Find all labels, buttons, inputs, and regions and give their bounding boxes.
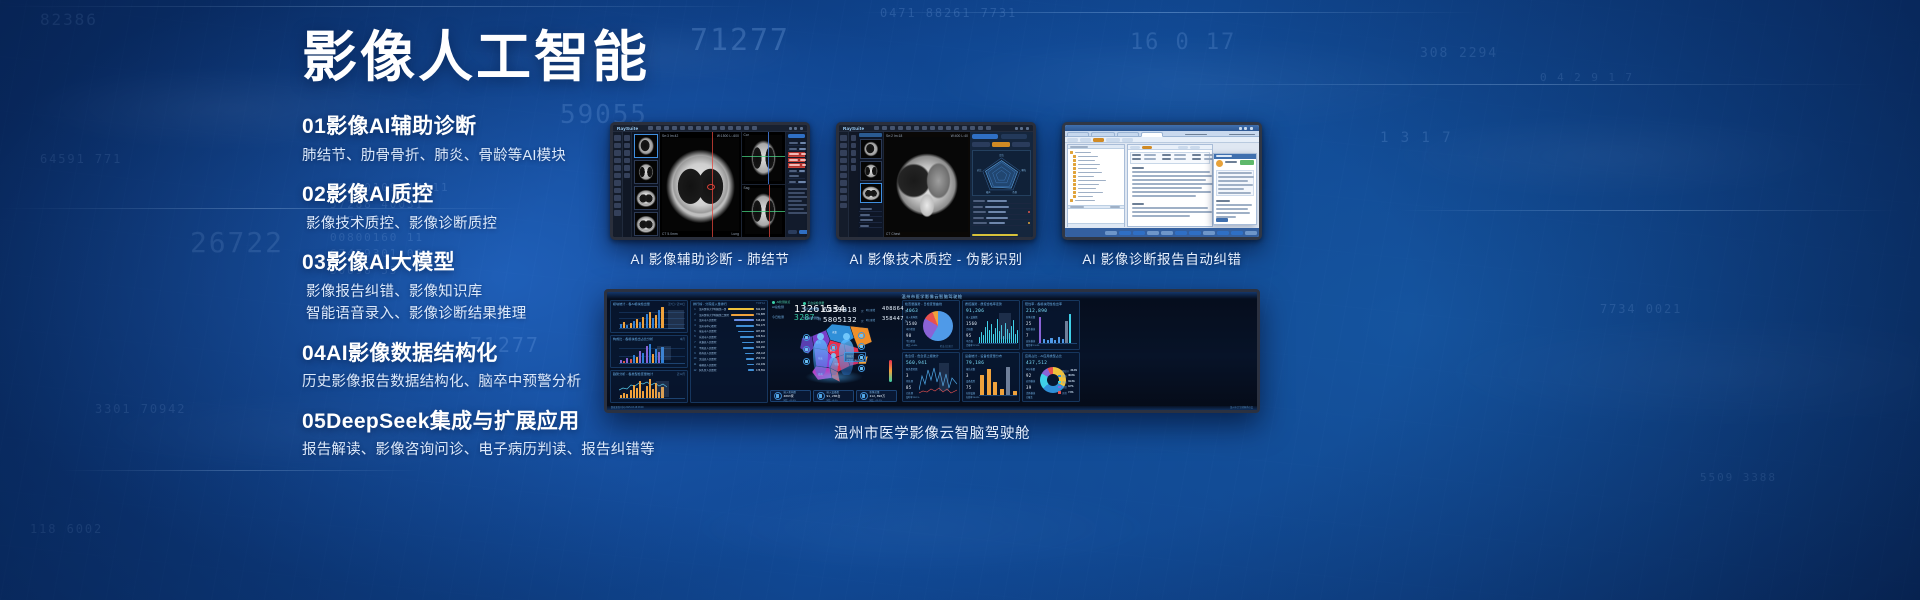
- hero-badge: 平台总检测量: [803, 301, 824, 305]
- kpi-card-images[interactable]: 影像总量 212,890万 同比 +15.2%: [856, 390, 897, 402]
- main-axial-view[interactable]: Se:2 Im:18 W:400 L:40 CT Chest: [884, 132, 970, 237]
- window-controls[interactable]: [789, 127, 807, 130]
- tool-rail[interactable]: [839, 132, 849, 237]
- list-item[interactable]: 12 洞头区人民医院 178,562: [693, 368, 765, 372]
- map-region-taishun: [800, 336, 814, 354]
- list-item[interactable]: 10 文成县人民医院 254,733: [693, 357, 765, 361]
- dashboard-footer-right: 温州市卫生健康委员会: [1230, 405, 1253, 409]
- hospital-icon: [774, 392, 782, 400]
- svg-text:噪声: 噪声: [986, 190, 991, 194]
- kpi-label: 接入机构数: [906, 315, 918, 319]
- page-title: 影像人工智能: [302, 28, 702, 86]
- wenzhou-map[interactable]: [788, 322, 888, 386]
- svg-text:对比: 对比: [977, 168, 982, 172]
- dashboard-panel-ai-usage[interactable]: 应用占比 - AI应用类型占比 437,512 AI分析量 92 应用模块 39…: [1022, 352, 1080, 402]
- svg-text:伪影: 伪影: [1013, 190, 1018, 194]
- apply-button[interactable]: [1216, 218, 1228, 222]
- pie-chart: [923, 311, 953, 341]
- hero-row1-label: 累计总检测数: [803, 307, 819, 311]
- panel-subtitle: TOP 12: [756, 302, 765, 305]
- toolbar[interactable]: [1065, 137, 1259, 143]
- panel-title: 设备统计 - 设备检查量分布: [965, 354, 1002, 358]
- series-thumbnail[interactable]: [860, 139, 882, 159]
- hero-row2-label: 分院总检测数: [803, 316, 819, 320]
- qc-option[interactable]: [972, 142, 990, 147]
- kpi-label: 报告总数: [966, 367, 975, 371]
- hero-row1-value: 6459818: [823, 305, 857, 314]
- dashboard-panel-critical-value[interactable]: 危急值 - 危急值上报统计 560,941 服务患者数 3 待处理 85 已处理…: [902, 352, 960, 402]
- panel-title: 阳性率 - 各模块阳性检出率: [1025, 302, 1062, 306]
- qc-option[interactable]: [1012, 142, 1030, 147]
- next-button[interactable]: [799, 230, 808, 234]
- dashboard-panel-positive-rate[interactable]: 阳性率 - 各模块阳性检出率 212,890 影像总量 25 阳性模块 7 高危…: [1022, 300, 1080, 350]
- screenshot-caption-2: AI 影像技术质控 - 伪影识别: [836, 248, 1036, 268]
- feature-desc-03-line-1: 影像报告纠错、影像知识库: [302, 282, 702, 304]
- map-total-label: AI总检测: [772, 305, 784, 309]
- image-icon: [860, 392, 868, 400]
- dashboard-footer: [607, 406, 1257, 410]
- hero-row2-value: 5805132: [823, 315, 857, 324]
- panel-title: 危急值 - 危急值上报统计: [905, 354, 939, 358]
- prev-button[interactable]: [788, 230, 797, 234]
- screenshot-caption-3: AI 影像诊断报告自动纠错: [1062, 248, 1262, 268]
- list-item[interactable]: 11 泰顺县人民医院 211,049: [693, 362, 765, 366]
- kpi-label: 接入设备数: [966, 315, 978, 319]
- map-tooltip: 鹿城区 检测量 284512 例: [844, 352, 866, 362]
- report-editor-window: RaySuite: [1062, 122, 1262, 240]
- coronal-view[interactable]: Cor: [742, 132, 786, 185]
- accept-button[interactable]: [1240, 160, 1254, 165]
- kpi-card-institutions[interactable]: 接入机构数 4063家 同比 +12.6%: [770, 390, 811, 402]
- window-controls[interactable]: [1015, 127, 1033, 130]
- kpi-value: 4063: [906, 309, 918, 314]
- chart-legend: 肺结节 33.3% 骨折 30.6% 肺炎 19.4% 骨龄 9.7% 其他 7…: [1058, 369, 1077, 395]
- kpi-label: 服务患者数: [906, 367, 918, 371]
- qc-tab-technique[interactable]: [972, 134, 998, 139]
- qc-viewer-window: RaySuite: [836, 122, 1036, 240]
- radar-chart: 定位曝光 伪影噪声对比: [973, 151, 1030, 195]
- map-legend-scale: [889, 360, 892, 382]
- screenshot-report-correction[interactable]: RaySuite: [1062, 122, 1262, 240]
- sagittal-view[interactable]: Sag: [742, 185, 786, 237]
- svg-text:曝光: 曝光: [1021, 168, 1026, 172]
- kpi-value: 437,512: [1026, 361, 1047, 366]
- toolbar-icons[interactable]: [874, 126, 990, 131]
- tool-rail-secondary[interactable]: [849, 132, 858, 237]
- window-controls[interactable]: [1239, 127, 1257, 130]
- correction-suggestion-popup[interactable]: [1213, 153, 1257, 225]
- dashboard-title: 温州市医学影像云智脑驾驶舱: [902, 294, 963, 300]
- feature-desc-02: 影像技术质控、影像诊断质控: [302, 214, 702, 236]
- dashboard-panel-qc-trend[interactable]: 质控趋势 - 质控合格率走势 91,206 接入设备数 1560 合格数 95 …: [962, 300, 1020, 350]
- list-item[interactable]: 9 苍南县人民医院 296,118: [693, 351, 765, 355]
- feature-title-01: 01影像AI辅助诊断: [302, 114, 702, 140]
- series-thumbnail[interactable]: [860, 183, 882, 203]
- panel-title: 检查量趋势 - 日检查量曲线: [905, 302, 942, 306]
- worklist-tree-pane[interactable]: [1067, 144, 1125, 227]
- feature-title-02: 02影像AI质控: [302, 182, 702, 208]
- dashboard-panel-device-stats[interactable]: 设备统计 - 设备检查量分布 79,186 报告总数 3 设备类型 75 在线设…: [962, 352, 1020, 402]
- list-item[interactable]: 5 瑞安市人民医院 487,930: [693, 329, 765, 333]
- dashboard-window: 温州市医学影像云智脑驾驶舱 模块统计 - 各AI模块检出量 近7日 / 近30日…: [604, 289, 1260, 413]
- feature-list: 01影像AI辅助诊断 肺结节、肋骨骨折、肺炎、骨龄等AI模块 02影像AI质控 …: [302, 114, 702, 462]
- series-tab[interactable]: [859, 133, 882, 137]
- feature-desc-04: 历史影像报告数据结构化、脑卒中预警分析: [302, 372, 702, 394]
- hero-row1-subvalue: 408864: [882, 306, 904, 312]
- hero-row2-subvalue: 358447: [882, 316, 904, 322]
- list-item[interactable]: 4 温州市中心医院 552,176: [693, 324, 765, 328]
- feature-title-03: 03影像AI大模型: [302, 250, 702, 276]
- report-text-pane[interactable]: [1127, 144, 1213, 227]
- dashboard-caption: 温州市医学影像云智脑驾驶舱: [604, 422, 1260, 443]
- panel-title: 质控趋势 - 质控合格率走势: [965, 302, 1002, 306]
- radar-chart-panel: 定位曝光 伪影噪声对比: [972, 150, 1031, 196]
- map-region-ouhai: [812, 330, 830, 350]
- feature-title-05: 05DeepSeek集成与扩展应用: [302, 409, 702, 435]
- qc-result-highlight: [972, 234, 1018, 236]
- list-item[interactable]: 8 平阳县人民医院 341,260: [693, 346, 765, 350]
- dashboard-panel-exam-count[interactable]: 检查量趋势 - 日检查量曲线 4063 接入机构数 1540 本月检查 98 今…: [902, 300, 960, 350]
- list-item[interactable]: 2 温州医科大学附属第二医院 731,885: [693, 313, 765, 317]
- kpi-label: AI分析量: [1026, 367, 1035, 371]
- series-thumbnail[interactable]: [860, 161, 882, 181]
- feature-item-02: 02影像AI质控 影像技术质控、影像诊断质控: [302, 182, 702, 235]
- ranking-list[interactable]: 1 温州医科大学附属第一医院 842,103 2 温州医科大学附属第二医院 73…: [693, 307, 765, 372]
- qc-tab-diagnosis[interactable]: [1001, 134, 1027, 139]
- list-item[interactable]: 1 温州医科大学附属第一医院 842,103: [693, 307, 765, 311]
- app-logo: RaySuite: [839, 126, 864, 131]
- findings-panel[interactable]: [786, 132, 807, 237]
- list-item[interactable]: 6 乐清市人民医院 436,512: [693, 335, 765, 339]
- series-thumbnail-strip[interactable]: [858, 132, 884, 237]
- titlebar: RaySuite: [839, 125, 1033, 132]
- list-item[interactable]: 7 永嘉县人民医院 388,407: [693, 340, 765, 344]
- analyze-button[interactable]: [788, 134, 805, 138]
- hero-row2-sublabel: 昨日新增: [866, 318, 875, 322]
- svg-text:定位: 定位: [999, 153, 1004, 157]
- kpi-label: 影像总量: [1026, 315, 1035, 319]
- hero-row1-sublabel: 昨日新增: [866, 308, 875, 312]
- feature-item-01: 01影像AI辅助诊断 肺结节、肋骨骨折、肺炎、骨龄等AI模块: [302, 114, 702, 167]
- screenshot-dashboard[interactable]: 温州市医学影像云智脑驾驶舱 模块统计 - 各AI模块检出量 近7日 / 近30日…: [604, 289, 1260, 413]
- qc-option-selected[interactable]: [992, 142, 1010, 147]
- feature-copy-column: 影像人工智能 01影像AI辅助诊断 肺结节、肋骨骨折、肺炎、骨龄等AI模块 02…: [302, 28, 702, 477]
- hero-totals: 平台总检测量 累计总检测数 6459818 次 昨日新增 408864 次 分院…: [803, 301, 907, 325]
- feature-title-04: 04AI影像数据结构化: [302, 341, 702, 367]
- feature-desc-01: 肺结节、肋骨骨折、肺炎、骨龄等AI模块: [302, 146, 702, 168]
- feature-item-05: 05DeepSeek集成与扩展应用 报告解读、影像咨询问诊、电子病历判读、报告纠…: [302, 409, 702, 462]
- action-bar[interactable]: [1065, 228, 1259, 237]
- feature-desc-05: 报告解读、影像咨询问诊、电子病历判读、报告纠错等: [302, 440, 702, 462]
- list-item[interactable]: 3 温州市人民医院 618,240: [693, 318, 765, 322]
- map-badge: AI检测总览: [772, 300, 790, 304]
- map-today-label: 今日检测: [772, 315, 784, 319]
- device-icon: [817, 392, 825, 400]
- region-map[interactable]: 永嘉 乐清 鹿城 瓯海 瑞安 平阳 苍南 鹿城区 检测量 284512 例: [788, 322, 888, 386]
- feature-item-03: 03影像AI大模型 影像报告纠错、影像知识库 智能语音录入、影像诊断结果推理: [302, 250, 702, 326]
- screenshot-ai-qc[interactable]: RaySuite: [836, 122, 1036, 240]
- kpi-card-devices[interactable]: 接入设备数 91,206台 同比 +8.4%: [813, 390, 854, 402]
- panel-title: 应用占比 - AI应用类型占比: [1025, 354, 1062, 358]
- qc-score-panel[interactable]: 定位曝光 伪影噪声对比: [970, 132, 1033, 237]
- feature-desc-03-line-2: 智能语音录入、影像诊断结果推理: [302, 304, 702, 326]
- critical-trend-line: [919, 362, 957, 396]
- feature-item-04: 04AI影像数据结构化 历史影像报告数据结构化、脑卒中预警分析: [302, 341, 702, 394]
